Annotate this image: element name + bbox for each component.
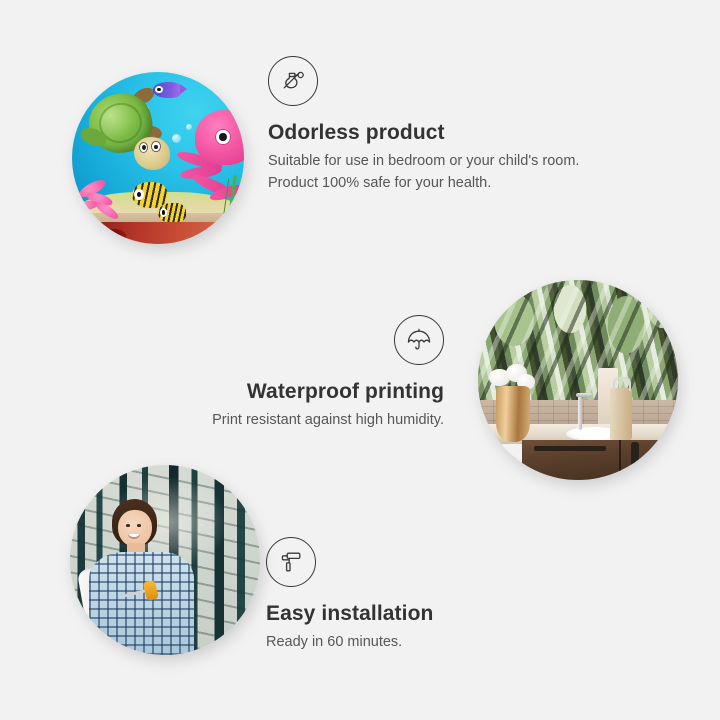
feature-description: Print resistant against high humidity. [150,410,444,432]
feature-odorless: Odorless product Suitable for use in bed… [268,56,598,195]
ocean-scene [72,72,244,244]
feature-title: Waterproof printing [150,379,444,405]
underwater-cartoon-mural-photo [72,72,244,244]
woman-paint-roller-forest-photo [70,465,260,655]
wood-vanity-cabinet [522,440,678,480]
fish-eye [134,189,144,200]
feature-title: Easy installation [266,601,566,627]
cabinet-seam [619,440,621,480]
bathroom-tropical-wallpaper-photo [478,280,678,480]
plaid-shirt [89,552,194,655]
octopus-eye [215,129,230,146]
turtle-head [134,137,170,170]
turtle-illustration [86,93,175,172]
forest-scene [70,465,260,655]
paint-roller-icon [266,537,316,587]
coral-illustration [75,172,133,224]
feature-title: Odorless product [268,120,598,146]
soap-dispenser [610,388,632,440]
octopus-head [195,110,244,165]
feature-easy-installation: Easy installation Ready in 60 minutes. [266,537,566,654]
feature-description: Suitable for use in bedroom or your chil… [268,151,598,195]
woman-figure [89,499,203,655]
room-furniture-foreground [96,222,244,244]
fish-eye [160,208,168,217]
eye [126,524,130,527]
blue-fish-illustration [153,82,182,97]
no-odor-perfume-bottle-icon [268,56,318,106]
feature-waterproof: Waterproof printing Print resistant agai… [150,315,444,432]
feature-description: Ready in 60 minutes. [266,632,566,654]
turtle-eye [151,141,160,152]
turtle-eye [139,142,148,153]
yellow-fish-illustration [132,182,166,208]
yellow-fish-illustration [158,203,186,224]
eye [137,524,141,527]
gold-vase [496,386,530,442]
umbrella-icon [394,315,444,365]
promo-infographic: Odorless product Suitable for use in bed… [0,0,720,720]
bathroom-scene [478,280,678,480]
fish-eye [155,86,163,93]
smile [128,534,140,539]
faucet [578,396,582,430]
